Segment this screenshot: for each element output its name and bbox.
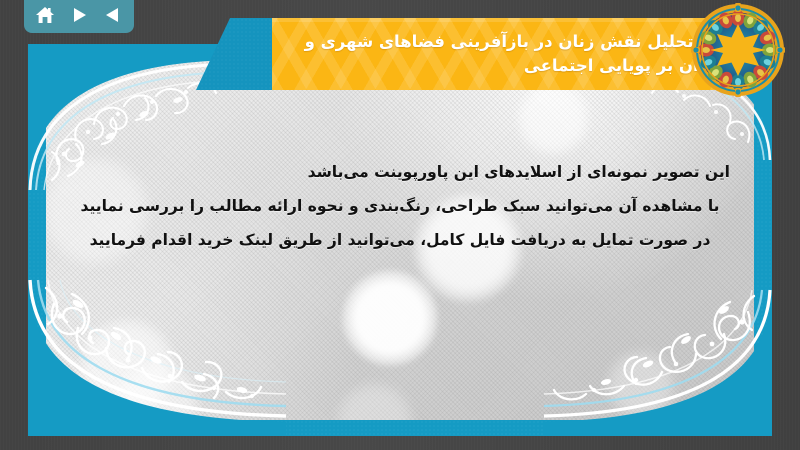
home-icon bbox=[35, 6, 55, 24]
slide-frame: این تصویر نمونه‌ای از اسلایدهای این پاور… bbox=[28, 44, 772, 436]
body-line-2: با مشاهده آن می‌توانید سبک طراحی، رنگ‌بن… bbox=[70, 190, 730, 224]
bokeh-circle bbox=[342, 270, 438, 366]
body-line-3: در صورت تمایل به دریافت فایل کامل، می‌تو… bbox=[70, 224, 730, 258]
bokeh-circle bbox=[516, 82, 590, 156]
slide-body-text: این تصویر نمونه‌ای از اسلایدهای این پاور… bbox=[70, 156, 730, 257]
page-title: کامل تحلیل نقش زنان در بازآفرینی فضاهای … bbox=[272, 30, 756, 78]
persian-medallion-icon bbox=[690, 2, 786, 98]
next-slide-button[interactable] bbox=[67, 4, 91, 26]
slide-content-panel: این تصویر نمونه‌ای از اسلایدهای این پاور… bbox=[46, 60, 754, 420]
banner-orange-band: کامل تحلیل نقش زنان در بازآفرینی فضاهای … bbox=[272, 18, 756, 90]
slide-navigation-bar[interactable] bbox=[24, 0, 134, 33]
triangle-right-icon bbox=[70, 7, 88, 23]
previous-slide-button[interactable] bbox=[101, 4, 125, 26]
slide-stage: این تصویر نمونه‌ای از اسلایدهای این پاور… bbox=[0, 0, 800, 450]
bokeh-circle bbox=[114, 360, 200, 420]
home-button[interactable] bbox=[33, 4, 57, 26]
bokeh-circle bbox=[606, 350, 676, 420]
title-banner: کامل تحلیل نقش زنان در بازآفرینی فضاهای … bbox=[196, 18, 756, 90]
triangle-left-icon bbox=[104, 7, 122, 23]
bokeh-circle bbox=[78, 318, 176, 416]
bokeh-circle bbox=[336, 382, 414, 420]
banner-tail-shape bbox=[196, 18, 272, 90]
body-line-1: این تصویر نمونه‌ای از اسلایدهای این پاور… bbox=[70, 156, 730, 190]
